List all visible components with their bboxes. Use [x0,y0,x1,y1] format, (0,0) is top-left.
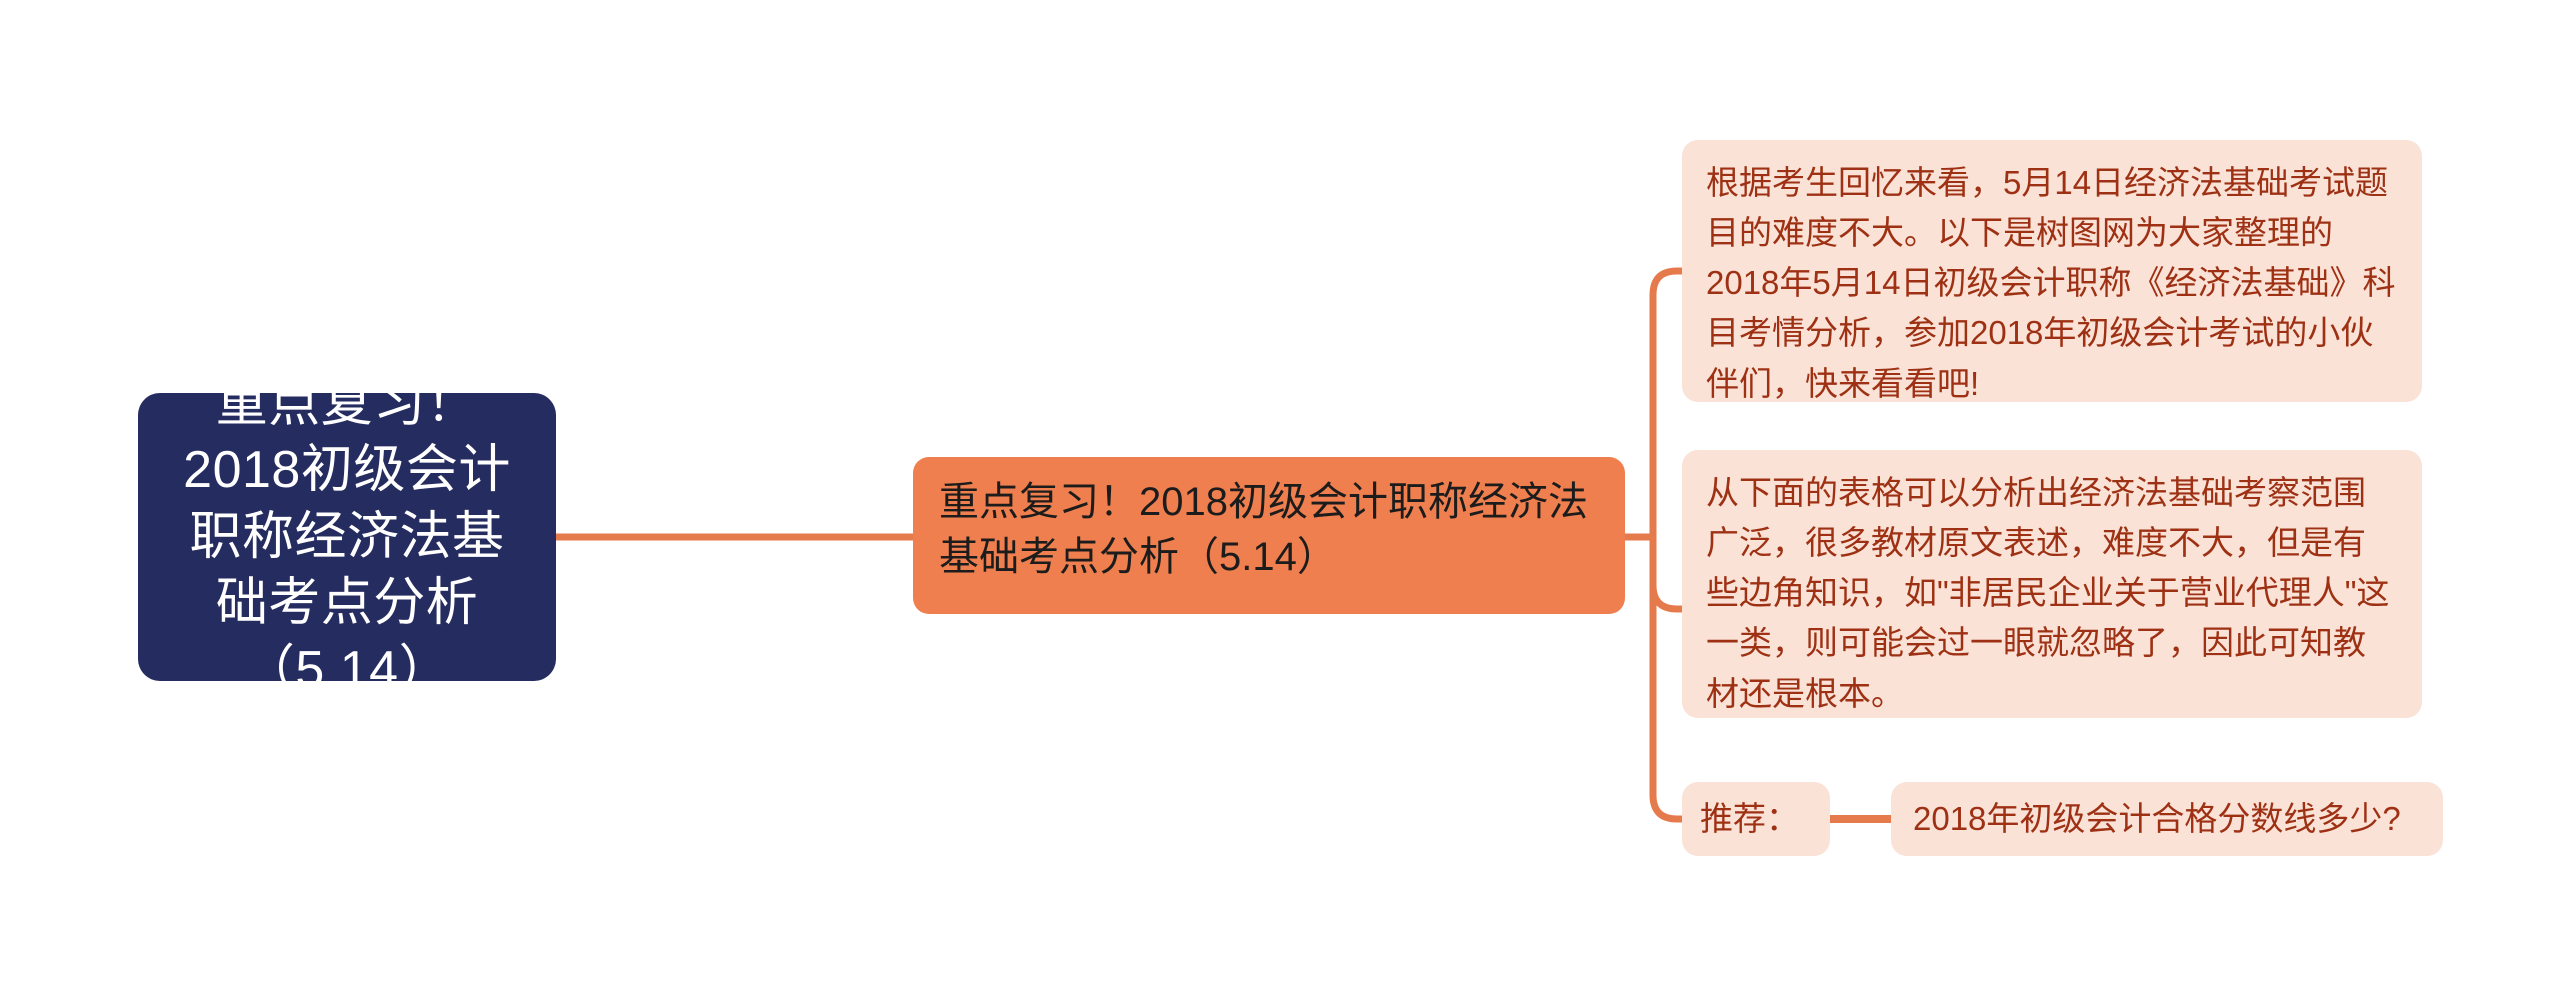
detail-node-2-label: 从下面的表格可以分析出经济法基础考察范围广泛，很多教材原文表述，难度不大，但是有… [1706,468,2398,719]
detail-node-2[interactable]: 从下面的表格可以分析出经济法基础考察范围广泛，很多教材原文表述，难度不大，但是有… [1682,450,2422,718]
recommendation-item-label: 2018年初级会计合格分数线多少? [1913,798,2421,841]
root-node[interactable]: 重点复习！2018初级会计职称经济法基础考点分析（5.14） [138,393,556,681]
detail-node-1[interactable]: 根据考生回忆来看，5月14日经济法基础考试题目的难度不大。以下是树图网为大家整理… [1682,140,2422,402]
detail-node-1-label: 根据考生回忆来看，5月14日经济法基础考试题目的难度不大。以下是树图网为大家整理… [1706,158,2398,409]
recommendation-label: 推荐： [1700,798,1812,841]
recommendation-item-node[interactable]: 2018年初级会计合格分数线多少? [1891,782,2443,856]
recommendation-label-node[interactable]: 推荐： [1682,782,1830,856]
mindmap-canvas: 重点复习！2018初级会计职称经济法基础考点分析（5.14） 重点复习！2018… [0,0,2560,991]
main-topic-label: 重点复习！2018初级会计职称经济法基础考点分析（5.14） [939,467,1599,585]
root-node-label: 重点复习！2018初级会计职称经济法基础考点分析（5.14） [164,371,530,704]
main-topic-node[interactable]: 重点复习！2018初级会计职称经济法基础考点分析（5.14） [913,457,1625,614]
